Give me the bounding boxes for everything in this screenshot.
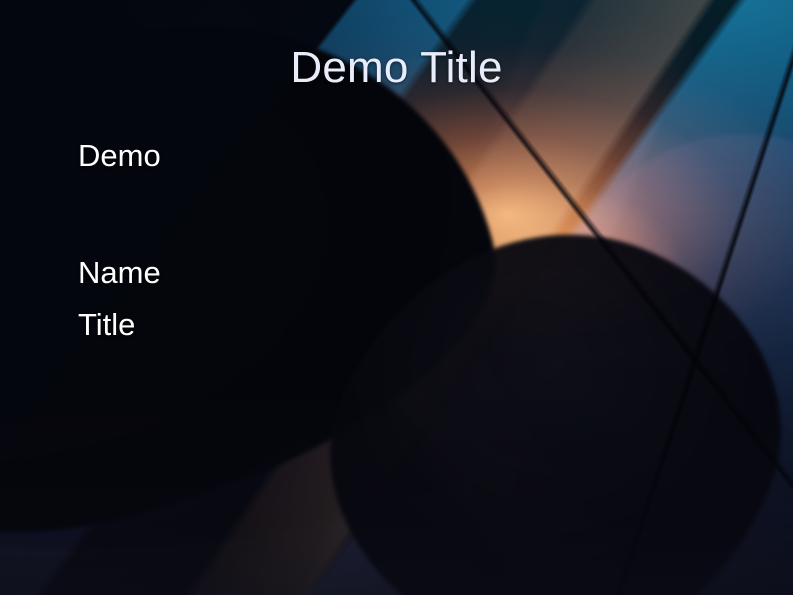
outline-item-title[interactable]: Title [78, 299, 638, 351]
outline-blank-line [78, 175, 638, 247]
content-placeholder[interactable]: Demo Name Title [78, 138, 638, 351]
outline-item-demo[interactable]: Demo [78, 138, 638, 175]
presentation-slide: Demo Title Demo Name Title [0, 0, 793, 595]
title-placeholder[interactable]: Demo Title [56, 44, 737, 92]
page-title[interactable]: Demo Title [56, 44, 737, 92]
outline-item-name[interactable]: Name [78, 247, 638, 299]
